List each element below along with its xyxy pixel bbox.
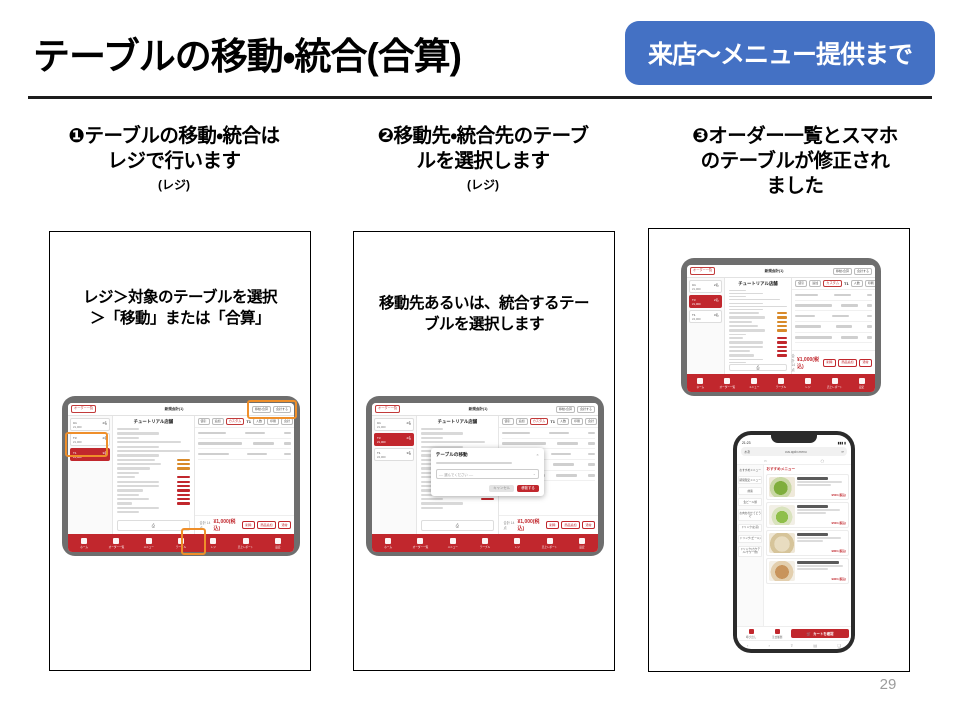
chart-icon: [832, 378, 838, 384]
lock-icon: ▭: [764, 459, 767, 463]
nav-item-home[interactable]: ホーム: [372, 538, 404, 549]
table-chip[interactable]: T13名 ¥4,000: [689, 310, 722, 323]
table-chip-amount: ¥1,000: [377, 440, 386, 444]
home-icon: [385, 538, 391, 544]
pos-topbar-title: 新規会計(1): [400, 407, 556, 412]
phone-footer: 呼び出し 注文履歴 🛒 カートを確認: [737, 626, 851, 640]
menu-icon: [751, 378, 757, 384]
receipt-shop-name: チュートリアル店舗: [729, 281, 788, 287]
cart-button[interactable]: 🛒 カートを確認: [791, 629, 849, 638]
order-head: 値引 追加 カスタム T1 人数 印刷 会計: [195, 416, 294, 428]
nav-item-register[interactable]: レジ: [501, 538, 533, 549]
order-panel: 値引 追加 カスタム T1 人数 印刷 会計 合計 14点: [195, 416, 294, 534]
table-select-value: ---- 選んでください ----: [439, 472, 473, 477]
table-icon: [482, 538, 488, 544]
nav-item-register[interactable]: レジ: [794, 378, 821, 389]
tablet-mock-step-2: オーダー一覧 新規会計(1) 移動・合算 会計する C12名 ¥1,000 T3…: [366, 396, 604, 556]
nav-item-table[interactable]: テーブル: [165, 538, 197, 549]
menu-item-photo: [769, 477, 795, 497]
menu-item-meta: ¥500 (税込): [797, 477, 846, 497]
cart-icon: 🛒: [807, 632, 811, 636]
order-subtotal-label: 合計 14点: [502, 520, 516, 530]
add-button[interactable]: 追加: [516, 418, 528, 425]
table-chip-amount: ¥1,000: [73, 440, 82, 444]
order-row[interactable]: [198, 439, 291, 450]
back-icon[interactable]: ‹: [747, 643, 748, 648]
menu-category[interactable]: ドリンク(カクテル・サワー他): [738, 546, 762, 557]
order-list-pill[interactable]: オーダー一覧: [375, 405, 400, 412]
tabs-icon[interactable]: ❏: [837, 643, 841, 648]
table-chip-amount: ¥1,000: [377, 425, 386, 429]
pay-button[interactable]: 会計: [281, 418, 293, 425]
print-head-button[interactable]: 印刷: [267, 418, 279, 425]
nav-item-order-list[interactable]: オーダー一覧: [714, 378, 741, 389]
order-normal-button[interactable]: 通常: [582, 521, 595, 529]
nav-label: レジ: [515, 545, 520, 549]
print-head-button[interactable]: 印刷: [571, 418, 583, 425]
pos-topbar-actions: 移動・合算 会計する: [252, 406, 291, 413]
menu-category[interactable]: おすすめメニュー: [738, 467, 762, 473]
bell-icon: [749, 629, 754, 634]
order-delete-button[interactable]: 削除: [242, 521, 255, 529]
move-merge-button[interactable]: 移動・合算: [556, 406, 575, 413]
order-head: 値引 追加 カスタム T1 人数 印刷 会計: [792, 278, 875, 290]
home-icon: [697, 378, 703, 384]
nav-label: テーブル: [480, 545, 490, 549]
confirm-move-button[interactable]: 移動する: [517, 485, 539, 492]
order-row[interactable]: [795, 333, 872, 344]
register-icon: [210, 538, 216, 544]
checkout-button[interactable]: 会計する: [854, 268, 872, 275]
card-2-caption-line2: ブルを選択します: [362, 315, 606, 336]
status-time: 21:23: [742, 441, 751, 445]
pos-screen-1: オーダー一覧 新規会計(1) 移動・合算 会計する C12名 ¥1,000 T3…: [68, 403, 294, 552]
order-foot: 合計 14点 ¥1,000(税込) 削除 商品追加 通常: [792, 350, 875, 374]
status-badge-label: 来店〜メニュー提供まで: [648, 35, 912, 71]
order-total: ¥1,000(税込): [214, 518, 238, 532]
order-subtotal-label: 合計 14点: [789, 353, 795, 372]
home-icon: [81, 538, 87, 544]
menu-section-title: おすすめメニュー: [766, 467, 849, 472]
print-button[interactable]: ⎙: [117, 520, 189, 531]
table-list: C12名 ¥1,000 T32名 ¥1,000 T13名 ¥4,000: [68, 416, 113, 534]
menu-icon: [450, 538, 456, 544]
order-total: ¥1,000(税込): [518, 518, 542, 532]
cart-label: カートを確認: [813, 631, 833, 636]
pos-topbar-title: 新規会計(1): [715, 269, 833, 274]
table-icon: [778, 378, 784, 384]
pos-body: C12名 ¥1,000 T32名 ¥1,000 T13名 ¥4,000 チュート…: [68, 416, 294, 534]
menu-item[interactable]: ¥500 (税込): [766, 502, 849, 528]
column-3-heading-line2: のテーブルが修正され: [645, 149, 945, 174]
menu-item-meta: ¥900 (税込): [797, 561, 846, 581]
menu-category[interactable]: お肉をのせてどうぞ: [738, 509, 762, 520]
order-table-label: T1: [844, 281, 849, 286]
browser-url-bar[interactable]: ぁあ cus.apdx.menu ⟳: [741, 447, 847, 456]
phone-mock: 21:23 ▮▮▮ ▮ ぁあ cus.apdx.menu ⟳ ▭ ◯ おすすめメ…: [733, 431, 855, 653]
modal-head: テーブルの移動 ×: [436, 452, 539, 458]
nav-item-settings[interactable]: 設定: [262, 538, 294, 549]
add-button[interactable]: 追加: [809, 280, 821, 287]
order-foot: 合計 14点 ¥1,000(税込) 削除 商品追加 通常: [499, 515, 598, 534]
pos-screen-2: オーダー一覧 新規会計(1) 移動・合算 会計する C12名 ¥1,000 T3…: [372, 403, 598, 552]
nav-label: 売上レポート: [827, 385, 843, 389]
menu-category[interactable]: 期間限定メニュー: [738, 476, 762, 484]
nav-label: オーダー一覧: [413, 545, 429, 549]
nav-label: オーダー一覧: [109, 545, 125, 549]
nav-label: ホーム: [697, 385, 705, 389]
browser-tab-bar: ▭ ◯: [737, 457, 851, 465]
table-chip-amount: ¥1,000: [73, 425, 82, 429]
cancel-button[interactable]: キャンセル: [489, 485, 514, 492]
page-title: テーブルの移動・統合(合算): [33, 26, 461, 80]
close-icon[interactable]: ×: [536, 452, 538, 457]
order-normal-button[interactable]: 通常: [859, 359, 872, 367]
column-1-heading-line2: レジで行います: [24, 149, 324, 174]
order-row[interactable]: [795, 290, 872, 301]
column-2-header: ❷移動先・統合先のテーブ ルを選択します (レジ): [333, 124, 633, 193]
discount-button[interactable]: 値引: [198, 418, 210, 425]
card-2-caption-line1: 移動先あるいは、統合するテー: [362, 294, 606, 315]
menu-item[interactable]: ¥900 (税込): [766, 558, 849, 584]
tablet-mock-step-1: オーダー一覧 新規会計(1) 移動・合算 会計する C12名 ¥1,000 T3…: [62, 396, 300, 556]
column-2-heading-line2: ルを選択します: [333, 149, 633, 174]
column-1-heading-line1: ❶テーブルの移動・統合は: [24, 124, 324, 149]
custom-button[interactable]: カスタム: [226, 418, 245, 425]
register-icon: [805, 378, 811, 384]
move-merge-button[interactable]: 移動・合算: [252, 406, 271, 413]
table-chip-selected[interactable]: T13名 ¥4,000: [70, 448, 110, 461]
nav-label: ホーム: [80, 545, 88, 549]
pos-bottom-nav: ホーム オーダー一覧 メニュー テーブル レジ 売上レポート 設定: [372, 534, 598, 552]
gear-icon: [275, 538, 281, 544]
table-list: C12名 ¥1,000 T32名 ¥1,000 T13名 ¥4,000: [372, 416, 417, 534]
phone-body: おすすめメニュー 期間限定メニュー 前菜 生ビール類 お肉をのせてどうぞ ドリン…: [737, 465, 851, 626]
order-normal-button[interactable]: 通常: [278, 521, 291, 529]
aa-icon[interactable]: ぁあ: [744, 449, 750, 454]
phone-notch: [771, 435, 817, 443]
receipt-shop-name: チュートリアル店舗: [117, 419, 189, 425]
column-3-heading-line3: ました: [645, 174, 945, 199]
menu-item-photo: [769, 505, 795, 525]
table-chip[interactable]: T32名 ¥1,000: [70, 433, 110, 446]
card-1-caption-line1: レジ＞対象のテーブルを選択: [58, 288, 302, 309]
column-2-heading-line1: ❷移動先・統合先のテーブ: [333, 124, 633, 149]
add-button[interactable]: 追加: [212, 418, 224, 425]
card-step-2: 移動先あるいは、統合するテー ブルを選択します オーダー一覧 新規会計(1) 移…: [353, 231, 615, 671]
pos-topbar: オーダー一覧 新規会計(1) 移動・合算 会計する: [372, 403, 598, 416]
nav-item-sales-report[interactable]: 売上レポート: [229, 538, 261, 549]
pos-topbar-actions: 移動・合算 会計する: [833, 268, 872, 275]
nav-label: オーダー一覧: [720, 385, 736, 389]
card-step-1: レジ＞対象のテーブルを選択 ＞「移動」または「合算」 オーダー一覧 新規会計(1…: [49, 231, 311, 671]
share-icon[interactable]: ⇪: [790, 643, 793, 648]
order-history-label: 注文履歴: [772, 635, 782, 639]
nav-label: 設定: [859, 385, 864, 389]
nav-label: ホーム: [384, 545, 392, 549]
table-chip[interactable]: C12名 ¥1,000: [374, 418, 414, 431]
column-2-subtitle: (レジ): [333, 176, 633, 193]
pay-button[interactable]: 会計: [585, 418, 597, 425]
print-head-button[interactable]: 印刷: [865, 280, 875, 287]
page-number: 29: [868, 676, 908, 693]
order-delete-button[interactable]: 削除: [823, 359, 836, 367]
order-row[interactable]: [795, 301, 872, 312]
nav-item-home[interactable]: ホーム: [68, 538, 100, 549]
order-list-pill[interactable]: オーダー一覧: [71, 405, 96, 412]
order-history-button[interactable]: 注文履歴: [765, 629, 789, 639]
order-add-item-button[interactable]: 商品追加: [561, 521, 580, 529]
table-move-modal: テーブルの移動 × ---- 選んでください ---- ⌄ キャンセル 移動する: [431, 448, 544, 497]
nav-label: 売上レポート: [238, 545, 254, 549]
table-chip[interactable]: C12名 ¥1,000: [689, 280, 722, 293]
column-3-heading-line1: ❸オーダー一覧とスマホ: [645, 124, 945, 149]
move-merge-button[interactable]: 移動・合算: [833, 268, 852, 275]
people-button[interactable]: 人数: [253, 418, 265, 425]
history-icon: [775, 629, 780, 634]
custom-button[interactable]: カスタム: [530, 418, 549, 425]
order-row[interactable]: [795, 311, 872, 322]
people-button[interactable]: 人数: [557, 418, 569, 425]
pos-topbar-actions: 移動・合算 会計する: [556, 406, 595, 413]
menu-item-photo: [769, 533, 795, 553]
nav-item-order-list[interactable]: オーダー一覧: [100, 538, 132, 549]
order-table-label: T1: [550, 419, 555, 424]
nav-item-sales-report[interactable]: 売上レポート: [821, 378, 848, 389]
order-head: 値引 追加 カスタム T1 人数 印刷 会計: [499, 416, 598, 428]
nav-item-menu[interactable]: メニュー: [741, 378, 768, 389]
nav-item-table[interactable]: テーブル: [768, 378, 795, 389]
column-3-header: ❸オーダー一覧とスマホ のテーブルが修正され ました: [645, 124, 945, 199]
menu-item-list: おすすめメニュー ¥500 (税込): [764, 465, 851, 626]
call-staff-label: 呼び出し: [746, 635, 756, 639]
pos-topbar: オーダー一覧 新規会計(1) 移動・合算 会計する: [68, 403, 294, 416]
title-divider: [28, 96, 932, 99]
nav-label: 売上レポート: [542, 545, 558, 549]
nav-item-settings[interactable]: 設定: [848, 378, 875, 389]
table-chip[interactable]: T13名 ¥4,000: [374, 448, 414, 461]
pos-screen-3: オーダー一覧 新規会計(1) 移動・合算 会計する C12名 ¥1,000 T3…: [687, 265, 875, 392]
nav-item-register[interactable]: レジ: [197, 538, 229, 549]
order-total: ¥1,000(税込): [797, 356, 819, 370]
nav-label: メニュー: [144, 545, 154, 549]
nav-label: 設定: [275, 545, 280, 549]
call-staff-button[interactable]: 呼び出し: [739, 629, 763, 639]
menu-item-price: ¥500 (税込): [832, 521, 846, 525]
nav-item-sales-report[interactable]: 売上レポート: [533, 538, 565, 549]
tablet-mock-step-3: オーダー一覧 新規会計(1) 移動・合算 会計する C12名 ¥1,000 T3…: [681, 258, 881, 396]
url-text: cus.apdx.menu: [785, 450, 807, 454]
receipt-preview: チュートリアル店舗 ⎙: [725, 278, 793, 374]
nav-label: テーブル: [176, 545, 186, 549]
nav-item-home[interactable]: ホーム: [687, 378, 714, 389]
pos-topbar: オーダー一覧 新規会計(1) 移動・合算 会計する: [687, 265, 875, 278]
order-delete-button[interactable]: 削除: [546, 521, 559, 529]
table-chip-amount: ¥4,000: [692, 317, 701, 321]
modal-description: [436, 462, 512, 464]
menu-item-price: ¥900 (税込): [832, 577, 846, 581]
pos-bottom-nav: ホーム オーダー一覧 メニュー テーブル レジ 売上レポート 設定: [68, 534, 294, 552]
status-icons: ▮▮▮ ▮: [838, 441, 846, 445]
nav-item-menu[interactable]: メニュー: [437, 538, 469, 549]
discount-button[interactable]: 値引: [502, 418, 514, 425]
order-list-pill[interactable]: オーダー一覧: [690, 267, 715, 274]
table-chip-amount: ¥1,000: [692, 287, 701, 291]
discount-button[interactable]: 値引: [795, 280, 807, 287]
gear-icon: [859, 378, 865, 384]
print-button[interactable]: ⎙: [729, 364, 788, 371]
order-subtotal-label: 合計 14点: [198, 520, 212, 530]
menu-item-meta: ¥500 (税込): [797, 505, 846, 525]
card-1-caption-line2: ＞「移動」または「合算」: [58, 309, 302, 330]
nav-item-table[interactable]: テーブル: [469, 538, 501, 549]
pos-bottom-nav: ホーム オーダー一覧 メニュー テーブル レジ 売上レポート 設定: [687, 374, 875, 392]
order-panel: 値引 追加 カスタム T1 人数 印刷 会計: [792, 278, 875, 374]
book-icon[interactable]: ▤: [813, 643, 817, 648]
order-rows: [195, 428, 294, 515]
chevron-down-icon: ⌄: [533, 472, 536, 476]
people-button[interactable]: 人数: [851, 280, 863, 287]
table-chip-amount: ¥4,000: [377, 455, 386, 459]
register-icon: [514, 538, 520, 544]
circle-icon: ◯: [821, 459, 824, 463]
checkout-button[interactable]: 会計する: [273, 406, 291, 413]
order-row[interactable]: [198, 449, 291, 460]
modal-actions: キャンセル 移動する: [436, 485, 539, 492]
card-1-caption: レジ＞対象のテーブルを選択 ＞「移動」または「合算」: [58, 288, 302, 330]
forward-icon[interactable]: ›: [769, 643, 770, 648]
menu-category[interactable]: 前菜: [738, 487, 762, 495]
menu-item-photo: [769, 561, 795, 581]
table-list: C12名 ¥1,000 T32名 ¥1,000 T13名 ¥4,000: [687, 278, 725, 374]
list-icon: [113, 538, 119, 544]
table-chip-amount: ¥1,000: [692, 302, 701, 306]
checkout-button[interactable]: 会計する: [577, 406, 595, 413]
table-chip[interactable]: C12名 ¥1,000: [70, 418, 110, 431]
table-chip-amount: ¥4,000: [73, 455, 82, 459]
list-icon: [417, 538, 423, 544]
order-row[interactable]: [502, 428, 595, 439]
order-add-item-button[interactable]: 商品追加: [838, 359, 857, 367]
menu-category[interactable]: 生ビール類: [738, 498, 762, 506]
menu-category-list: おすすめメニュー 期間限定メニュー 前菜 生ビール類 お肉をのせてどうぞ ドリン…: [737, 465, 764, 626]
card-2-caption: 移動先あるいは、統合するテー ブルを選択します: [362, 294, 606, 336]
column-1-subtitle: (レジ): [24, 176, 324, 193]
table-icon: [178, 538, 184, 544]
menu-item-price: ¥800 (税込): [832, 549, 846, 553]
pos-body: C12名 ¥1,000 T32名 ¥1,000 T13名 ¥4,000 チュート…: [687, 278, 875, 374]
receipt-preview: チュートリアル店舗 ⎙: [113, 416, 194, 534]
nav-item-menu[interactable]: メニュー: [133, 538, 165, 549]
column-1-header: ❶テーブルの移動・統合は レジで行います (レジ): [24, 124, 324, 193]
menu-item[interactable]: ¥500 (税込): [766, 474, 849, 500]
modal-title: テーブルの移動: [436, 452, 468, 458]
order-add-item-button[interactable]: 商品追加: [257, 521, 276, 529]
status-badge: 来店〜メニュー提供まで: [625, 21, 935, 85]
table-select[interactable]: ---- 選んでください ---- ⌄: [436, 469, 539, 479]
chart-icon: [547, 538, 553, 544]
order-row[interactable]: [198, 428, 291, 439]
nav-label: レジ: [211, 545, 216, 549]
menu-item-price: ¥500 (税込): [832, 493, 846, 497]
chart-icon: [243, 538, 249, 544]
nav-label: メニュー: [749, 385, 759, 389]
receipt-shop-name: チュートリアル店舗: [421, 419, 493, 425]
custom-button[interactable]: カスタム: [823, 280, 842, 287]
gear-icon: [579, 538, 585, 544]
nav-label: 設定: [579, 545, 584, 549]
menu-icon: [146, 538, 152, 544]
nav-item-order-list[interactable]: オーダー一覧: [404, 538, 436, 549]
phone-screen: 21:23 ▮▮▮ ▮ ぁあ cus.apdx.menu ⟳ ▭ ◯ おすすめメ…: [737, 435, 851, 649]
order-rows: [792, 290, 875, 350]
menu-item[interactable]: ¥800 (税込): [766, 530, 849, 556]
order-foot: 合計 14点 ¥1,000(税込) 削除 商品追加 通常: [195, 515, 294, 534]
order-table-label: T1: [246, 419, 251, 424]
browser-nav-bar: ‹ › ⇪ ▤ ❏: [737, 640, 851, 649]
reload-icon[interactable]: ⟳: [841, 450, 844, 454]
pos-topbar-title: 新規会計(1): [96, 407, 252, 412]
table-chip-selected[interactable]: T32名 ¥1,000: [374, 433, 414, 446]
nav-label: メニュー: [448, 545, 458, 549]
print-button[interactable]: ⎙: [421, 520, 493, 531]
table-chip-selected[interactable]: T32名 ¥1,000: [689, 295, 722, 308]
nav-item-settings[interactable]: 設定: [566, 538, 598, 549]
nav-label: レジ: [805, 385, 810, 389]
menu-category[interactable]: ドリンク(ビール): [738, 535, 762, 543]
list-icon: [724, 378, 730, 384]
nav-label: テーブル: [776, 385, 786, 389]
menu-item-meta: ¥800 (税込): [797, 533, 846, 553]
order-row[interactable]: [795, 322, 872, 333]
menu-category[interactable]: ドリンク(お茶): [738, 524, 762, 532]
